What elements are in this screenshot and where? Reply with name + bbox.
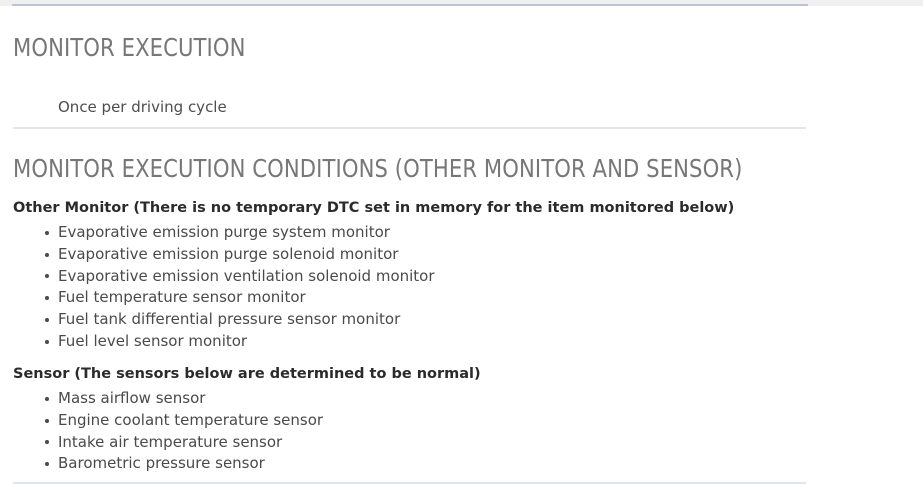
list-item: Mass airflow sensor (0, 388, 323, 410)
list-item: Evaporative emission purge system monito… (0, 222, 435, 244)
bullet-icon (45, 419, 49, 423)
list-item: Evaporative emission purge solenoid moni… (0, 244, 435, 266)
bullet-icon (45, 274, 49, 278)
list-item-label: Evaporative emission purge system monito… (58, 223, 390, 241)
list-item: Evaporative emission ventilation solenoi… (0, 266, 435, 288)
list-item-label: Engine coolant temperature sensor (58, 411, 323, 429)
list-other-monitor: Evaporative emission purge system monito… (0, 222, 435, 353)
list-item-label: Mass airflow sensor (58, 389, 205, 407)
bullet-icon (45, 397, 49, 401)
bullet-icon (45, 231, 49, 235)
list-item-label: Evaporative emission ventilation solenoi… (58, 267, 435, 285)
bullet-icon (45, 462, 49, 466)
list-item: Barometric pressure sensor (0, 453, 323, 475)
bullet-icon (45, 340, 49, 344)
group-label-other-monitor: Other Monitor (There is no temporary DTC… (13, 200, 734, 216)
bullet-icon (45, 253, 49, 257)
list-item: Engine coolant temperature sensor (0, 410, 323, 432)
group-label-sensor: Sensor (The sensors below are determined… (13, 366, 481, 382)
list-item-label: Fuel tank differential pressure sensor m… (58, 310, 400, 328)
page-title-monitor-conditions: MONITOR EXECUTION CONDITIONS (OTHER MONI… (13, 154, 742, 183)
bullet-icon (45, 296, 49, 300)
page-title-monitor-execution: MONITOR EXECUTION (13, 33, 246, 62)
list-item: Fuel tank differential pressure sensor m… (0, 309, 435, 331)
list-item: Fuel level sensor monitor (0, 331, 435, 353)
section-divider-top (13, 127, 806, 129)
list-sensor: Mass airflow sensor Engine coolant tempe… (0, 388, 323, 475)
document-page: MONITOR EXECUTION Once per driving cycle… (0, 6, 923, 480)
bullet-icon (45, 440, 49, 444)
monitor-execution-value: Once per driving cycle (58, 98, 227, 116)
list-item-label: Fuel temperature sensor monitor (58, 288, 306, 306)
list-item-label: Barometric pressure sensor (58, 454, 265, 472)
list-item: Intake air temperature sensor (0, 432, 323, 454)
list-item-label: Fuel level sensor monitor (58, 332, 247, 350)
list-item: Fuel temperature sensor monitor (0, 287, 435, 309)
list-item-label: Evaporative emission purge solenoid moni… (58, 245, 398, 263)
bullet-icon (45, 318, 49, 322)
list-item-label: Intake air temperature sensor (58, 433, 282, 451)
